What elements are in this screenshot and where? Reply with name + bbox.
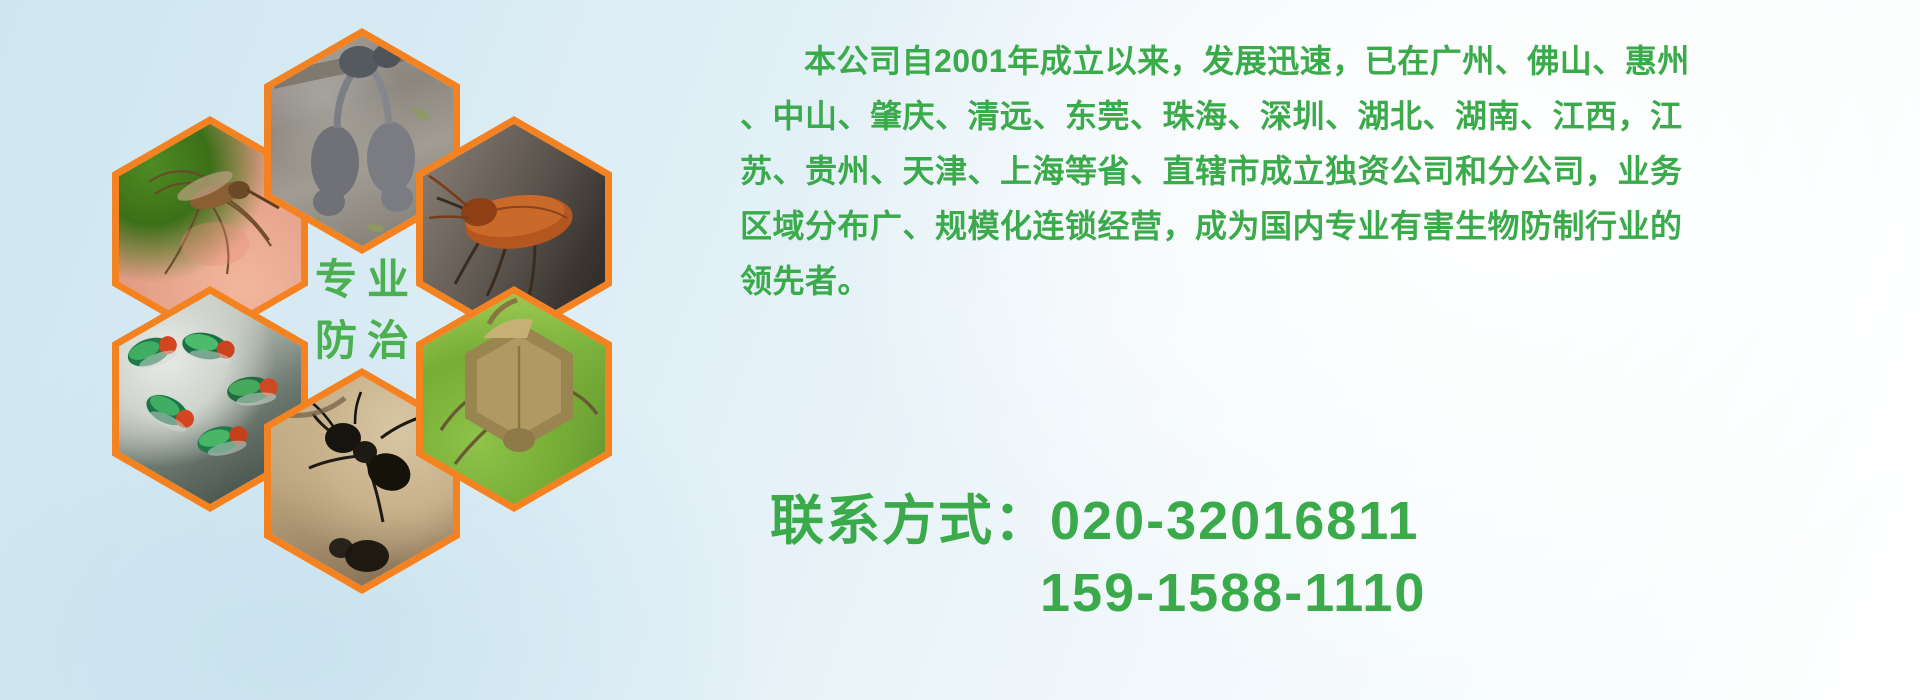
contact-phone-secondary[interactable]: 159-1588-1110 <box>770 557 1870 629</box>
hex-center-label-frame: 专业 防治 <box>271 206 453 416</box>
contact-block: 联系方式：020-32016811 159-1588-1110 <box>770 485 1870 629</box>
contact-label: 联系方式： <box>770 491 1050 551</box>
center-label-line-1: 专业 <box>305 250 419 311</box>
contact-primary-line: 联系方式：020-32016811 <box>770 485 1870 557</box>
honeycomb-collage: 专业 防治 <box>96 0 616 580</box>
contact-phone-primary[interactable]: 020-32016811 <box>1050 491 1419 551</box>
company-intro-paragraph: 本公司自2001年成立以来，发展迅速，已在广州、佛山、惠州 、中山、肇庆、清远、… <box>740 34 1900 309</box>
center-label-line-2: 防治 <box>305 311 419 372</box>
intro-line-4: 区域分布广、规模化连锁经营，成为国内专业有害生物防制行业的 <box>740 199 1900 254</box>
intro-line-2: 、中山、肇庆、清远、东莞、珠海、深圳、湖北、湖南、江西，江 <box>740 89 1900 144</box>
promo-banner: 专业 防治 本公司自2001年成立以来，发展迅速，已在广州、佛山、惠州 、中山、… <box>0 0 1920 700</box>
intro-line-5: 领先者。 <box>740 254 1900 309</box>
intro-line-3: 苏、贵州、天津、上海等省、直辖市成立独资公司和分公司，业务 <box>740 144 1900 199</box>
intro-line-1: 本公司自2001年成立以来，发展迅速，已在广州、佛山、惠州 <box>740 34 1900 89</box>
